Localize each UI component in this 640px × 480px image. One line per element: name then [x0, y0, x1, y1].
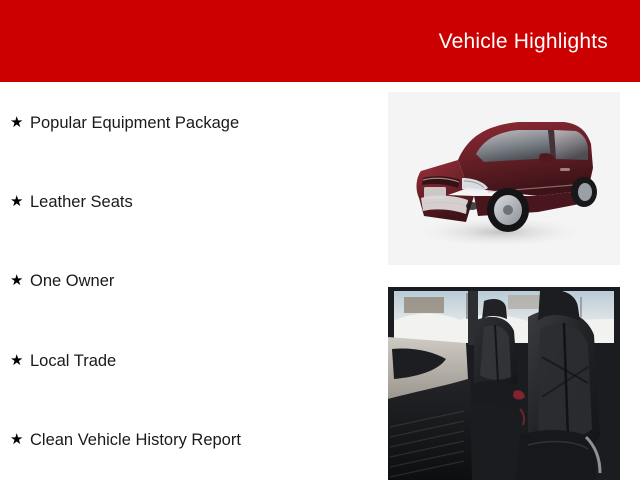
list-item: ★ Local Trade — [10, 350, 116, 372]
highlight-label: Clean Vehicle History Report — [30, 429, 241, 451]
highlight-label: Popular Equipment Package — [30, 112, 239, 134]
list-item: ★ Clean Vehicle History Report — [10, 429, 241, 451]
header-banner: Vehicle Highlights — [0, 0, 640, 82]
exterior-illustration — [388, 92, 620, 265]
star-bullet-icon: ★ — [10, 191, 30, 213]
interior-illustration — [388, 287, 620, 480]
vehicle-photo-column — [388, 92, 620, 480]
vehicle-exterior-photo — [388, 92, 620, 265]
highlight-label: One Owner — [30, 270, 114, 292]
star-bullet-icon: ★ — [10, 270, 30, 292]
vehicle-interior-photo — [388, 287, 620, 480]
list-item: ★ Leather Seats — [10, 191, 133, 213]
highlight-label: Local Trade — [30, 350, 116, 372]
vehicle-highlights-list: ★ Popular Equipment Package ★ Leather Se… — [0, 82, 375, 480]
list-item: ★ Popular Equipment Package — [10, 112, 239, 134]
star-bullet-icon: ★ — [10, 112, 30, 134]
star-bullet-icon: ★ — [10, 350, 30, 372]
list-item: ★ One Owner — [10, 270, 114, 292]
star-bullet-icon: ★ — [10, 429, 30, 451]
highlight-label: Leather Seats — [30, 191, 133, 213]
page-title: Vehicle Highlights — [439, 31, 608, 52]
